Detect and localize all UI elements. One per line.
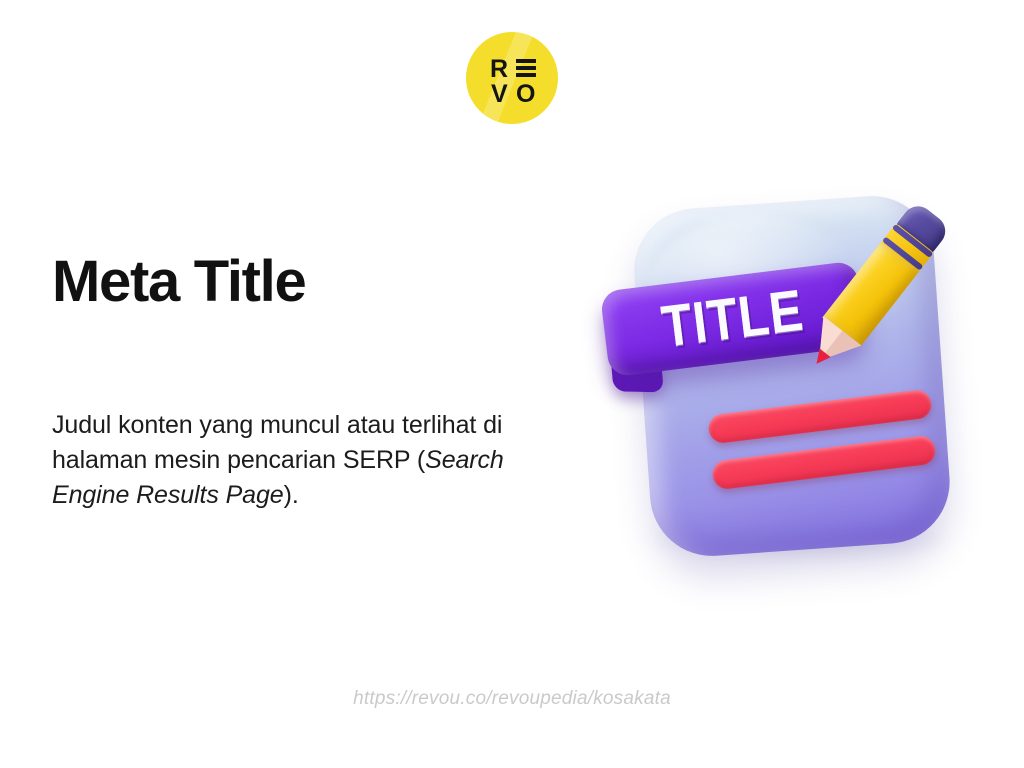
definition-tail-text: ).: [284, 481, 299, 509]
logo-letter-r: R: [490, 57, 508, 82]
definition-paragraph: Judul konten yang muncul atau terlihat d…: [52, 408, 552, 513]
hero-illustration: TITLE: [596, 186, 986, 576]
footer-source-url[interactable]: https://revou.co/revoupedia/kosakata: [0, 688, 1024, 710]
logo-letter-o: O: [516, 82, 535, 107]
revou-logo[interactable]: R V O: [466, 32, 558, 124]
logo-circle-background: R V O: [466, 32, 558, 124]
logo-letter-e-icon: [516, 59, 536, 78]
page-title: Meta Title: [52, 252, 305, 313]
logo-lettering: R V O: [466, 32, 558, 124]
title-banner-label: TITLE: [659, 281, 807, 356]
logo-letter-v: V: [491, 82, 507, 107]
slide-canvas: R V O Meta Title Judul konten yang muncu…: [0, 0, 1024, 768]
